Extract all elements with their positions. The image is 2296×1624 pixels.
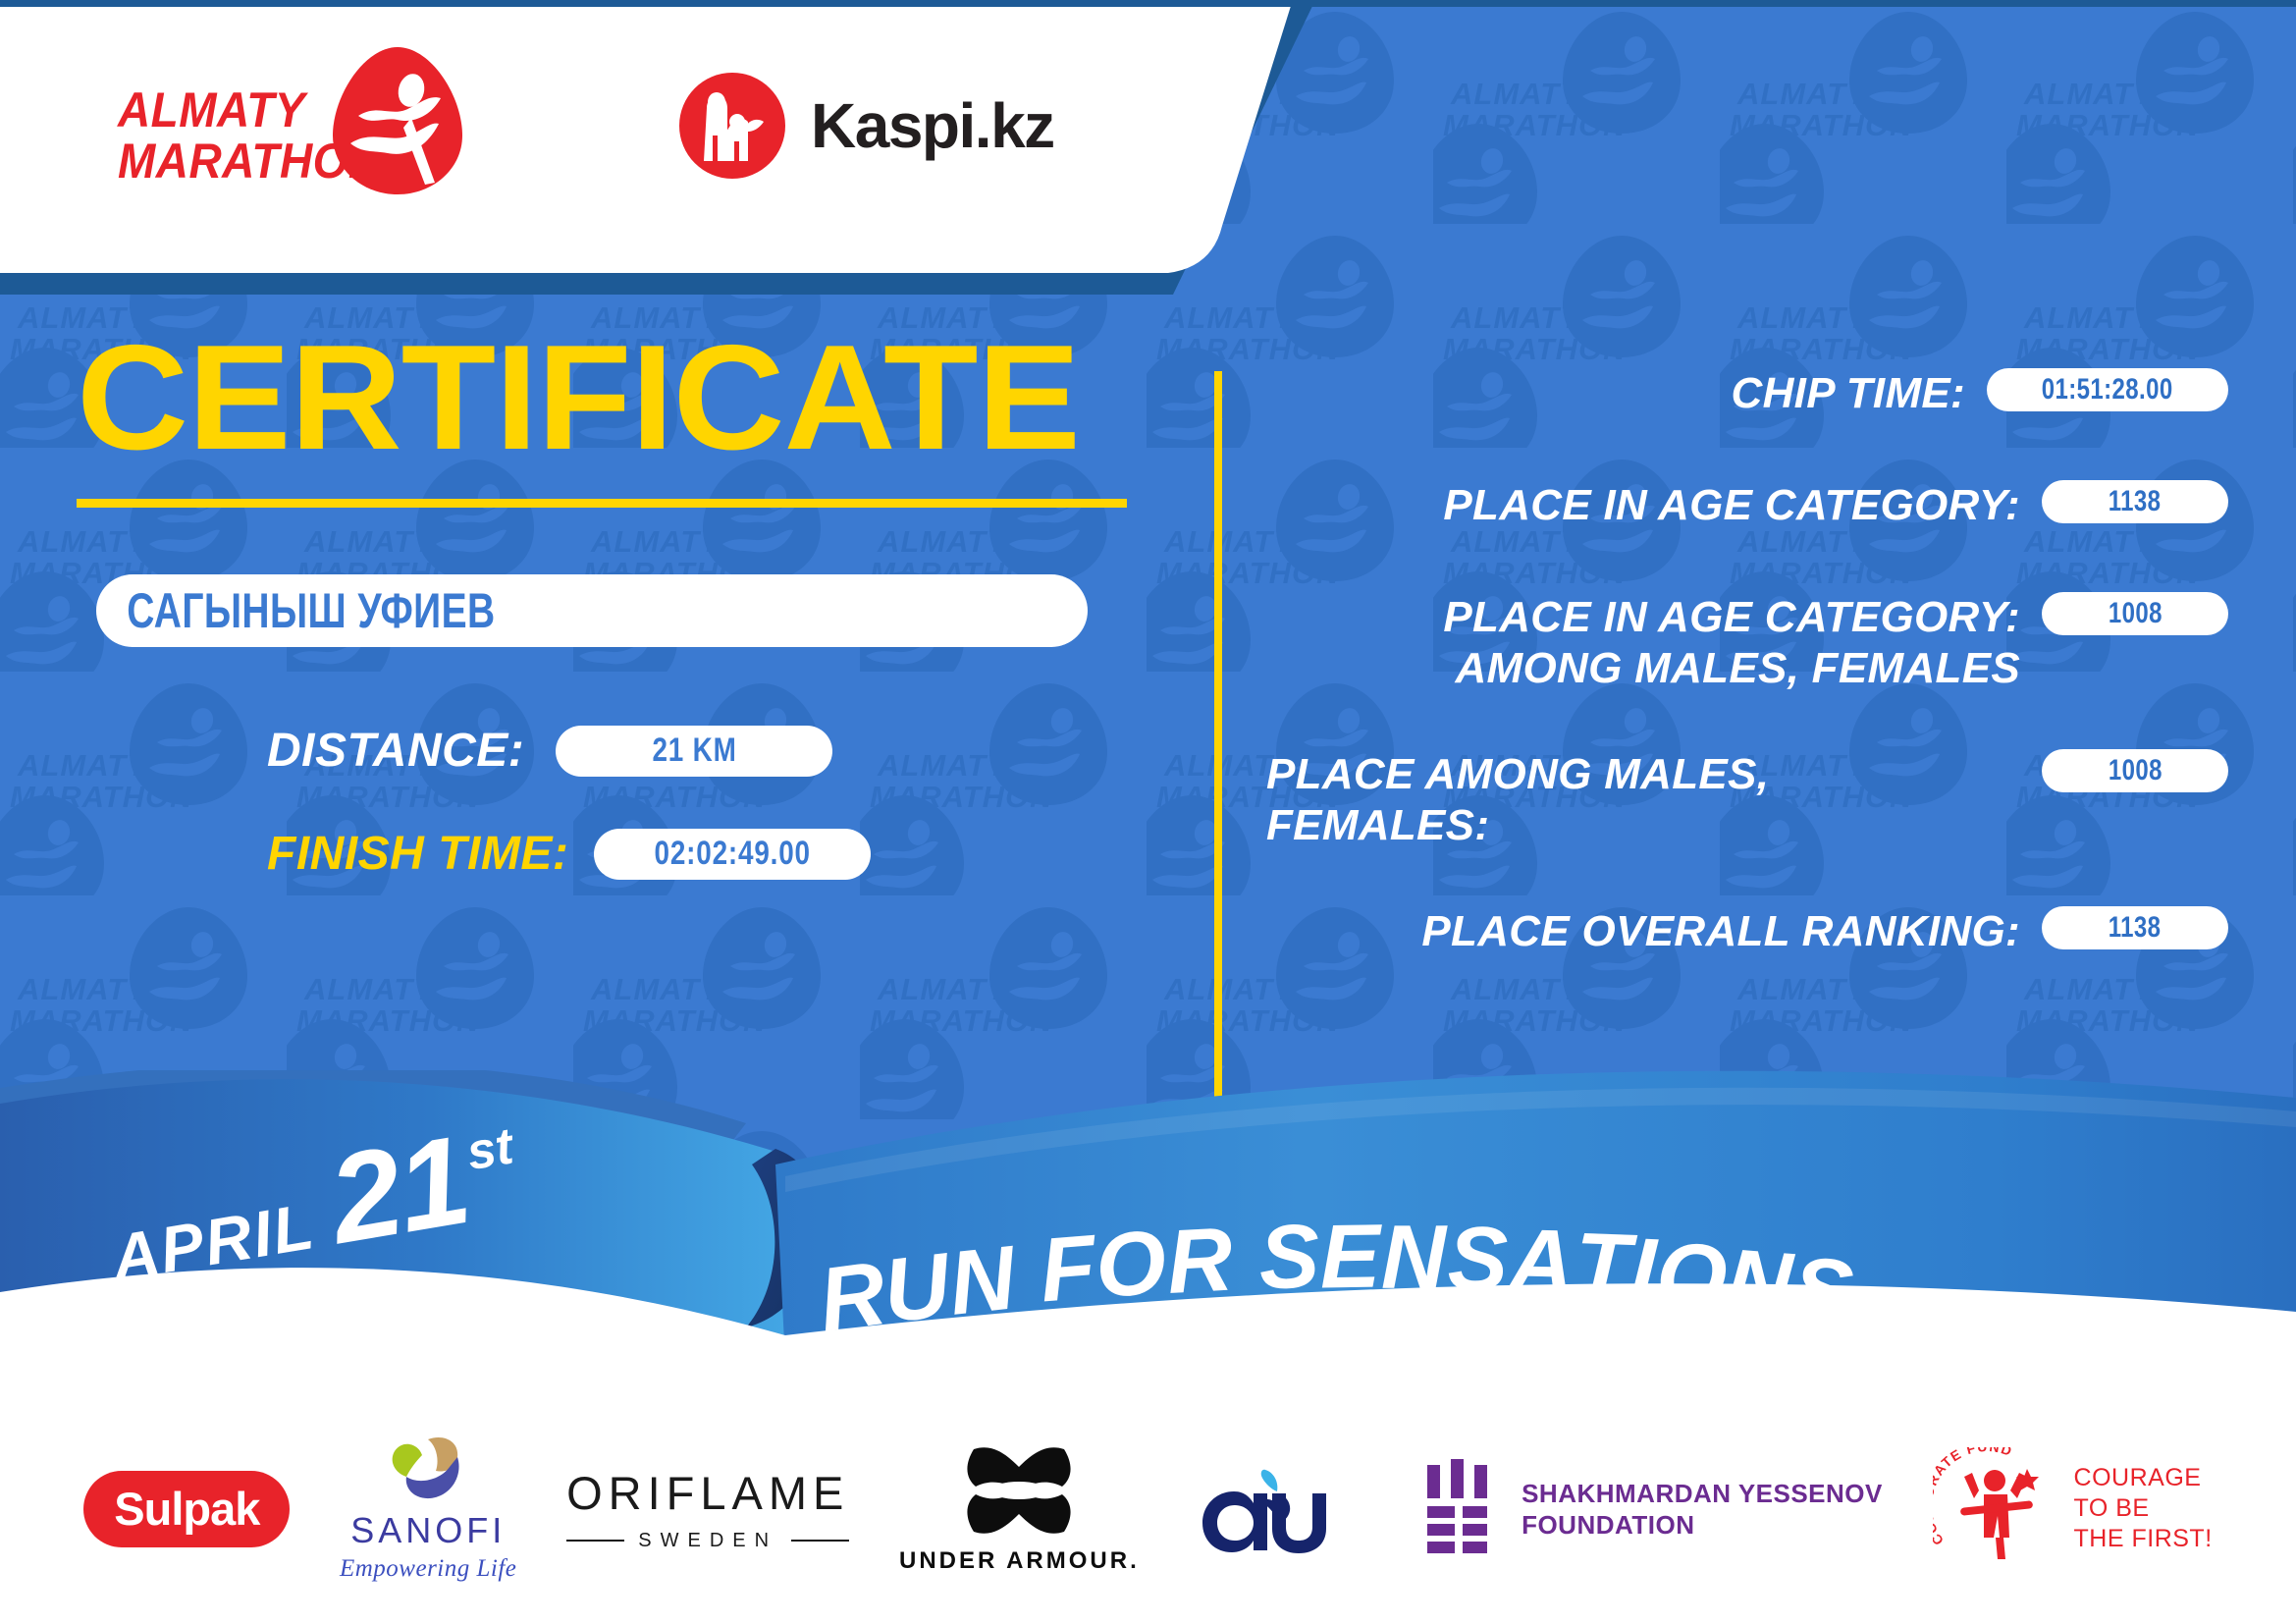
corporate-fund-text-block: COURAGE TO BE THE FIRST!: [2074, 1463, 2213, 1554]
ribbon-slogan-char: R: [1164, 1209, 1235, 1315]
ribbon-slogan-char: S: [1788, 1237, 1856, 1345]
yessenov-label-line1: SHAKHMARDAN YESSENOV: [1522, 1478, 1883, 1509]
kaspi-logo: Kaspi.kz: [677, 71, 1054, 181]
distance-value-pill: 21 KM: [556, 726, 832, 777]
kaspi-people-icon: [677, 71, 787, 181]
ribbon-slogan-char: O: [1093, 1212, 1169, 1320]
kaspi-wordmark: Kaspi.kz: [811, 94, 1054, 157]
distance-value: 21 KM: [652, 731, 736, 770]
distance-row: DISTANCE: 21 KM: [0, 724, 1207, 778]
sanofi-tagline: Empowering Life: [340, 1555, 516, 1583]
oriflame-sub-row: SWEDEN: [566, 1530, 849, 1552]
chip-time-value: 01:51:28.00: [2042, 373, 2173, 406]
ribbon-slogan-char: N: [1723, 1229, 1795, 1337]
place-age-category-gender-value-pill: 1008: [2042, 592, 2228, 635]
vertical-divider: [1214, 371, 1222, 1098]
place-among-gender-value-pill: 1008: [2042, 749, 2228, 792]
place-among-gender-value: 1008: [2109, 754, 2163, 787]
sanofi-label: SANOFI: [350, 1510, 506, 1551]
ribbon-slogan-char: E: [1319, 1206, 1381, 1310]
sponsor-sanofi: SANOFI Empowering Life: [340, 1435, 516, 1583]
finish-time-label: FINISH TIME:: [267, 827, 568, 881]
finish-time-row: FINISH TIME: 02:02:49.00: [0, 827, 1207, 881]
yessenov-label-line2: FOUNDATION: [1522, 1509, 1883, 1541]
distance-label: DISTANCE:: [267, 724, 524, 778]
sulpak-logo: Sulpak: [83, 1471, 290, 1547]
ribbon-day: 21: [324, 1131, 474, 1250]
place-overall-value: 1138: [2109, 911, 2162, 945]
sponsor-yessenov-foundation: SHAKHMARDAN YESSENOV FOUNDATION: [1425, 1459, 1883, 1559]
header-logos: ALMATY MARATHON Kaspi.kz: [0, 0, 1227, 285]
participant-name: САГЫНЫШ УФИЕВ: [96, 582, 496, 639]
oriflame-rule-left: [566, 1540, 624, 1542]
yessenov-mark-icon: [1425, 1459, 1496, 1559]
result-row-chip-time: CHIP TIME: 01:51:28.00: [1266, 368, 2228, 439]
ribbon-slogan-char: N: [1381, 1207, 1447, 1310]
ribbon-slogan-char: [1231, 1207, 1260, 1311]
almaty-marathon-line2: MARATHON: [118, 135, 357, 187]
result-row-place-overall: PLACE OVERALL RANKING: 1138: [1266, 906, 2228, 977]
result-row-place-among-gender: PLACE AMONG MALES, FEMALES: 1008: [1266, 749, 2228, 865]
oriflame-rule-right: [791, 1540, 849, 1542]
sponsor-bar: Sulpak SANOFI Empowering Life ORIFLAME S…: [0, 1393, 2296, 1624]
ribbon-slogan-char: A: [1508, 1210, 1575, 1315]
ribbon-slogan-char: F: [1037, 1216, 1099, 1323]
results-panel: CHIP TIME: 01:51:28.00 PLACE IN AGE CATE…: [1266, 368, 2228, 1018]
place-age-category-gender-value: 1008: [2109, 597, 2163, 630]
yessenov-text-block: SHAKHMARDAN YESSENOV FOUNDATION: [1522, 1478, 1883, 1541]
corporate-fund-line1: COURAGE: [2074, 1463, 2213, 1493]
ribbon-slogan-char: O: [1653, 1223, 1730, 1330]
place-among-gender-label: PLACE AMONG MALES, FEMALES:: [1266, 749, 2020, 851]
certificate-left-column: CERTIFICATE САГЫНЫШ УФИЕВ DISTANCE: 21 K…: [0, 324, 1207, 881]
almaty-marathon-logo: ALMATY MARATHON: [118, 57, 442, 204]
title-underline: [77, 499, 1127, 508]
sponsor-oriflame: ORIFLAME SWEDEN: [566, 1466, 849, 1552]
sponsor-under-armour: UNDER ARMOUR.: [899, 1443, 1140, 1575]
chip-time-label: CHIP TIME:: [1266, 368, 1965, 419]
ribbon-day-suffix: st: [462, 1116, 517, 1182]
place-age-category-value: 1138: [2109, 485, 2162, 518]
corporate-fund-line2: TO BE: [2074, 1493, 2213, 1524]
ribbon-slogan: RUN FOR SENSATIONS: [825, 1231, 1848, 1334]
certificate-canvas: ALMATY MARATHON ALMATY MARATHON: [0, 0, 2296, 1624]
sponsor-sulpak: Sulpak: [83, 1471, 290, 1547]
result-row-place-age-category-gender: PLACE IN AGE CATEGORY: AMONG MALES, FEMA…: [1266, 592, 2228, 708]
place-age-category-label: PLACE IN AGE CATEGORY:: [1266, 480, 2020, 531]
sulpak-label: Sulpak: [114, 1482, 259, 1536]
ribbon-slogan-char: U: [879, 1234, 955, 1344]
participant-name-field: САГЫНЫШ УФИЕВ: [96, 574, 1088, 647]
place-overall-label: PLACE OVERALL RANKING:: [1266, 906, 2020, 957]
ribbon-slogan-char: N: [944, 1226, 1020, 1335]
oriflame-tagline: SWEDEN: [638, 1530, 777, 1552]
place-age-category-gender-label: PLACE IN AGE CATEGORY: AMONG MALES, FEMA…: [1266, 592, 2020, 694]
corporate-fund-line3: THE FIRST!: [2074, 1524, 2213, 1554]
ribbon-slogan-char: S: [1257, 1206, 1320, 1311]
result-row-place-age-category: PLACE IN AGE CATEGORY: 1138: [1266, 480, 2228, 551]
page-title: CERTIFICATE: [77, 324, 1253, 471]
under-armour-icon: [940, 1443, 1097, 1540]
asu-logo-icon: [1189, 1462, 1375, 1556]
almaty-marathon-line1: ALMATY: [118, 84, 357, 135]
ribbon-slogan-char: T: [1573, 1214, 1631, 1319]
sponsor-asu: [1189, 1462, 1375, 1556]
place-overall-value-pill: 1138: [2042, 906, 2228, 949]
runner-teardrop-icon: [329, 45, 466, 197]
chip-time-value-pill: 01:51:28.00: [1987, 368, 2228, 411]
finish-time-value: 02:02:49.00: [655, 835, 811, 873]
under-armour-label: UNDER ARMOUR.: [899, 1547, 1140, 1575]
ribbon-slogan-char: S: [1447, 1208, 1508, 1312]
sanofi-mark-icon: [381, 1435, 475, 1506]
finish-time-value-pill: 02:02:49.00: [594, 829, 871, 880]
place-age-category-value-pill: 1138: [2042, 480, 2228, 523]
sponsor-corporate-fund: CORPORATE FUND COURAGE TO BE THE FIRST!: [1933, 1447, 2213, 1570]
corporate-fund-runner-icon: CORPORATE FUND: [1933, 1447, 2060, 1570]
oriflame-label: ORIFLAME: [566, 1466, 849, 1520]
